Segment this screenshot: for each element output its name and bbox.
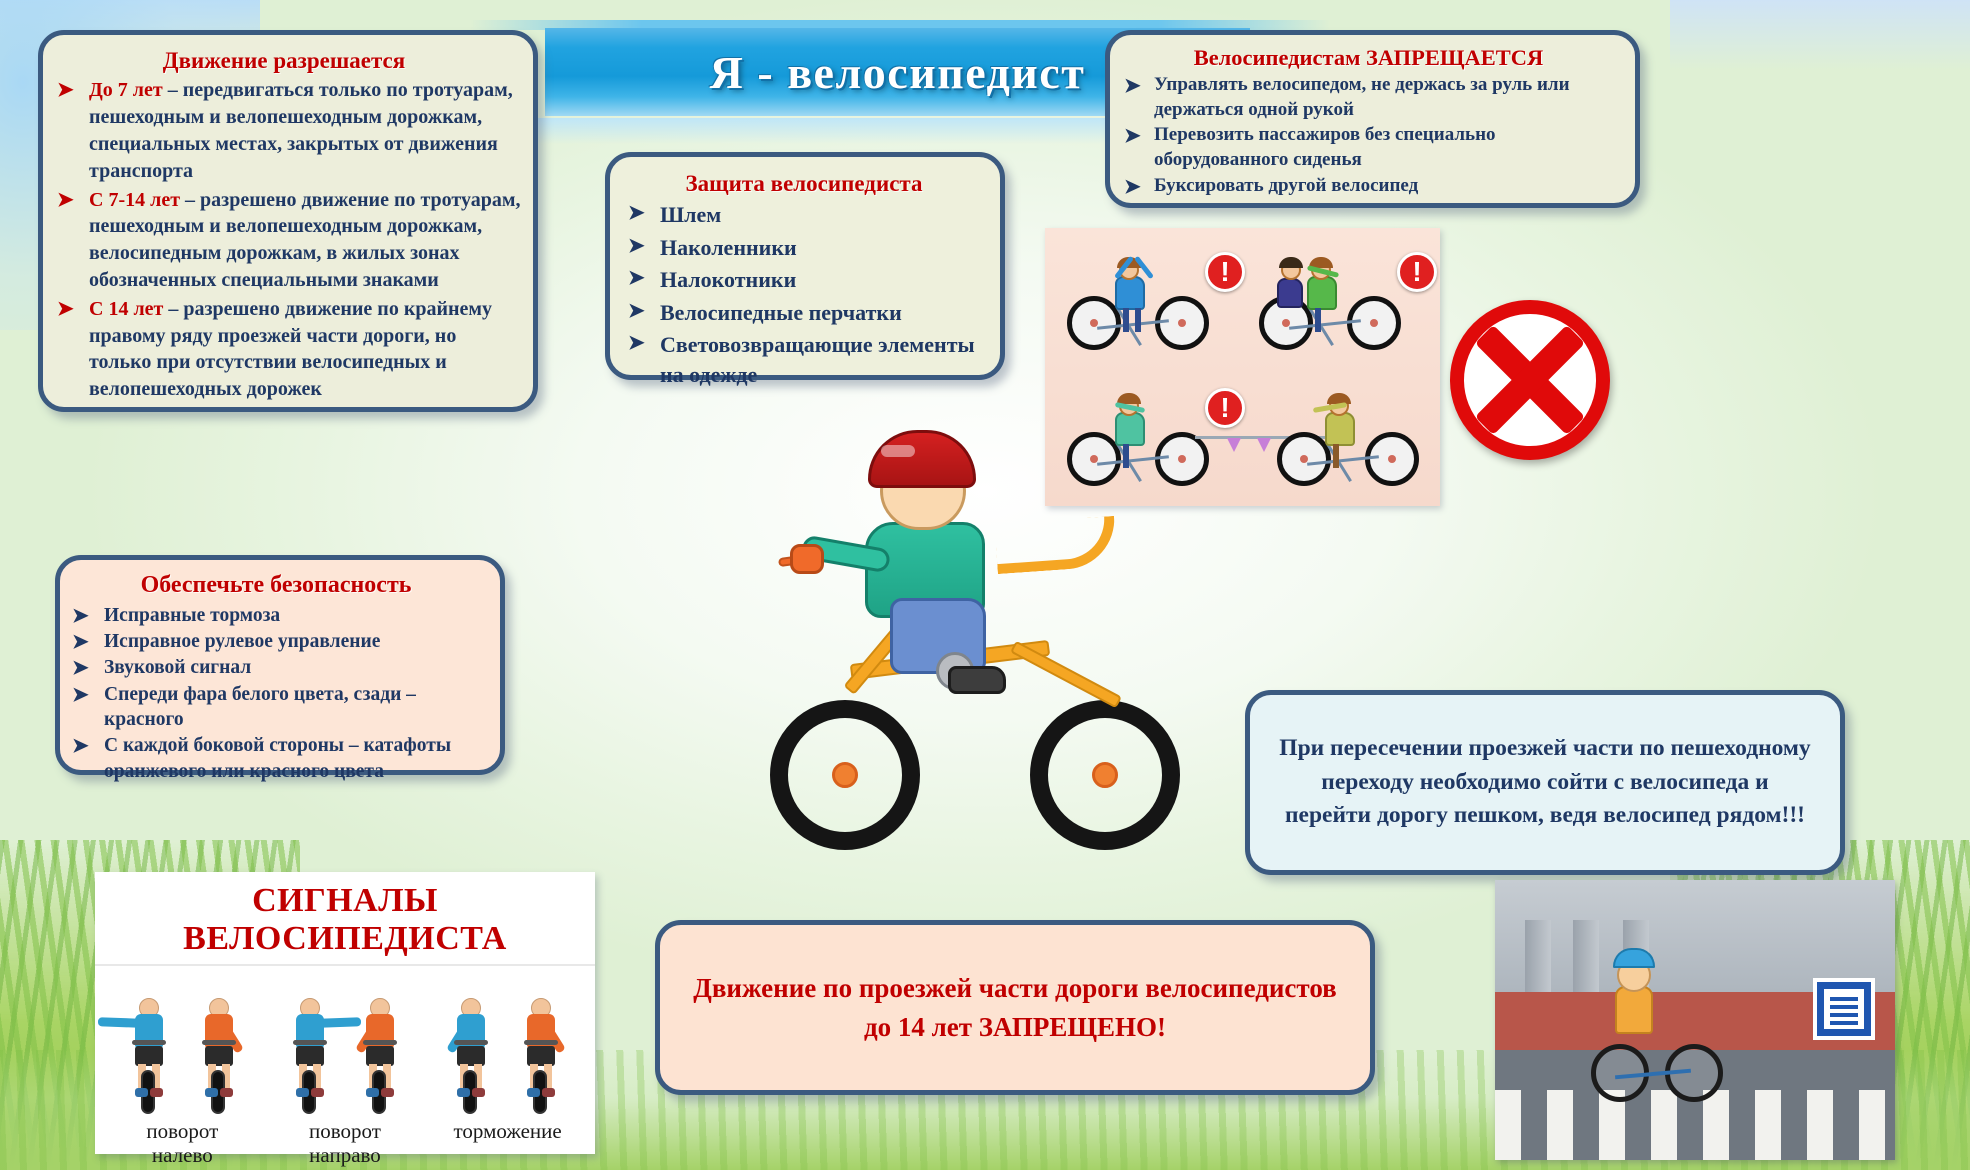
allowed-item-0-lead: До 7 лет — [89, 79, 163, 101]
safety-list: ➤ Исправные тормоза ➤ Исправное рулевое … — [62, 603, 490, 784]
shoe-icon — [296, 1088, 309, 1097]
wheel-icon — [1067, 296, 1121, 350]
forbidden-list: ➤ Управлять велосипедом, не держась за р… — [1116, 73, 1621, 198]
bullet-arrow-icon: ➤ — [72, 733, 89, 760]
shorts-icon — [205, 1046, 233, 1066]
handlebar-icon — [132, 1040, 166, 1045]
cyclist-rear-icon — [440, 978, 502, 1116]
passenger-torso-icon — [1277, 278, 1303, 308]
photo-pedestrian-crossing — [1495, 880, 1895, 1160]
card-safety-title: Обеспечьте безопасность — [62, 572, 490, 600]
torso-icon — [1325, 412, 1355, 446]
warning-badge-icon: ! — [1205, 252, 1245, 292]
list-item: ➤ Исправное рулевое управление — [62, 629, 490, 654]
signal-label-left-turn: поворот налево — [107, 1120, 257, 1167]
list-item: ➤ Световозвращающие элементы на одежде — [618, 330, 990, 391]
bunting-flag-icon — [1227, 438, 1241, 452]
crossing-text: При пересечении проезжей части по пешехо… — [1276, 732, 1814, 832]
card-cyclist-protection: Защита велосипедиста ➤ Шлем ➤ Наколенник… — [605, 152, 1005, 380]
protection-list: ➤ Шлем ➤ Наколенники ➤ Налокотники ➤ Вел… — [618, 200, 990, 390]
list-item: ➤ Управлять велосипедом, не держась за р… — [1116, 73, 1621, 122]
signals-title: СИГНАЛЫ ВЕЛОСИПЕДИСТА — [95, 872, 595, 966]
list-item: ➤ С 14 лет – разрешено движение по крайн… — [47, 296, 521, 403]
handlebar-icon — [363, 1040, 397, 1045]
shoe-icon — [366, 1088, 379, 1097]
decor-corner-top-right — [1670, 0, 1970, 70]
signal-label-braking: торможение — [433, 1120, 583, 1167]
bullet-arrow-icon: ➤ — [72, 655, 89, 682]
signals-labels: поворот налево поворот направо торможени… — [95, 1116, 595, 1170]
bike-frame-chainstay — [1010, 641, 1122, 709]
safety-item-1: Исправное рулевое управление — [104, 631, 380, 652]
bullet-arrow-icon: ➤ — [72, 629, 89, 656]
shorts-icon — [366, 1046, 394, 1066]
violation-no-hands-icon — [1063, 244, 1213, 354]
list-item: ➤ Перевозить пассажиров без специально о… — [1116, 123, 1621, 172]
leg-icon — [1135, 308, 1141, 332]
shoe-icon — [948, 666, 1006, 694]
list-item: ➤ С каждой боковой стороны – катафоты ор… — [62, 733, 490, 784]
rear-wheel-icon — [770, 700, 920, 850]
list-item: ➤ Спереди фара белого цвета, сзади – кра… — [62, 682, 490, 733]
shorts-icon — [135, 1046, 163, 1066]
bullet-arrow-icon: ➤ — [1124, 174, 1141, 201]
card-ensure-safety: Обеспечьте безопасность ➤ Исправные торм… — [55, 555, 505, 775]
shoe-icon — [542, 1088, 555, 1097]
arm-extended-left-icon — [98, 1017, 140, 1027]
violation-passenger-icon — [1255, 244, 1405, 354]
bullet-arrow-icon: ➤ — [57, 187, 74, 214]
torso-icon — [1307, 276, 1337, 310]
safety-item-2: Звуковой сигнал — [104, 657, 251, 678]
poster-root: Я - велосипедист Движение разрешается ➤ … — [0, 0, 1970, 1170]
bullet-arrow-icon: ➤ — [1124, 73, 1141, 100]
signal-braking-figures — [440, 978, 572, 1116]
bullet-arrow-icon: ➤ — [628, 233, 645, 260]
bullet-arrow-icon: ➤ — [57, 77, 74, 104]
leg-icon — [1123, 308, 1129, 332]
signal-left-turn-figures — [118, 978, 250, 1116]
shoe-icon — [472, 1088, 485, 1097]
protection-item-4: Световозвращающие элементы на одежде — [660, 332, 975, 387]
wheel-icon — [1155, 296, 1209, 350]
illustration-boy-on-bicycle — [760, 430, 1190, 850]
bullet-arrow-icon: ➤ — [1124, 123, 1141, 150]
warning-badge-icon: ! — [1397, 252, 1437, 292]
shoe-icon — [205, 1088, 218, 1097]
shorts-icon — [296, 1046, 324, 1066]
warning-badge-icon: ! — [1205, 388, 1245, 428]
card-protect-title: Защита велосипедиста — [618, 171, 990, 197]
allowed-item-2-lead: С 14 лет — [89, 298, 163, 320]
card-forbidden-title: Велосипедистам ЗАПРЕЩАЕТСЯ — [1116, 45, 1621, 71]
card-forbidden-actions: Велосипедистам ЗАПРЕЩАЕТСЯ ➤ Управлять в… — [1105, 30, 1640, 208]
bullet-arrow-icon: ➤ — [72, 603, 89, 630]
card-roadway-ban: Движение по проезжей части дороги велоси… — [655, 920, 1375, 1095]
torso-icon — [1115, 276, 1145, 310]
allowed-item-1-lead: С 7-14 лет — [89, 189, 180, 211]
pedestrian-crossing-sign-icon — [1813, 978, 1875, 1040]
signal-label-right-turn: поворот направо — [270, 1120, 420, 1167]
protection-item-2: Налокотники — [660, 267, 796, 292]
list-item: ➤ Налокотники — [618, 265, 990, 295]
list-item: ➤ Наколенники — [618, 233, 990, 263]
list-item: ➤ Исправные тормоза — [62, 603, 490, 628]
protection-item-1: Наколенники — [660, 235, 797, 260]
fender-icon — [994, 516, 1117, 574]
signal-right-turn-figures — [279, 978, 411, 1116]
card-allowed-movement: Движение разрешается ➤ До 7 лет – передв… — [38, 30, 538, 412]
forbidden-item-2: Буксировать другой велосипед — [1154, 175, 1418, 196]
safety-item-3: Спереди фара белого цвета, сзади – красн… — [104, 684, 416, 730]
safety-item-0: Исправные тормоза — [104, 605, 280, 626]
violation-towed-bike-icon — [1273, 380, 1423, 490]
bunting-flag-icon — [1257, 438, 1271, 452]
allowed-list: ➤ До 7 лет – передвигаться только по тро… — [47, 77, 521, 403]
signals-illustrations — [95, 966, 595, 1116]
shorts-icon — [457, 1046, 485, 1066]
cyclist-rear-icon — [279, 978, 341, 1116]
shoe-icon — [150, 1088, 163, 1097]
bullet-arrow-icon: ➤ — [628, 298, 645, 325]
list-item: ➤ Шлем — [618, 200, 990, 230]
handlebar-icon — [454, 1040, 488, 1045]
wheel-icon — [1277, 432, 1331, 486]
protection-item-0: Шлем — [660, 202, 721, 227]
safety-item-4: С каждой боковой стороны – катафоты оран… — [104, 735, 451, 781]
cyclist-rear-icon — [118, 978, 180, 1116]
handlebar-icon — [293, 1040, 327, 1045]
shoe-icon — [527, 1088, 540, 1097]
forbidden-item-1: Перевозить пассажиров без специально обо… — [1154, 124, 1496, 170]
bullet-arrow-icon: ➤ — [628, 330, 645, 357]
bullet-arrow-icon: ➤ — [628, 265, 645, 292]
leg-icon — [1333, 444, 1339, 468]
sign-glyph — [1824, 989, 1864, 1029]
cyclist-rear-icon — [349, 978, 411, 1116]
wheel-icon — [1347, 296, 1401, 350]
passenger-hair-icon — [1279, 257, 1303, 268]
hand-icon — [790, 544, 824, 574]
front-wheel-icon — [1030, 700, 1180, 850]
list-item: ➤ Звуковой сигнал — [62, 655, 490, 680]
prohibition-cross-icon — [1450, 300, 1610, 460]
forbidden-item-0: Управлять велосипедом, не держась за рул… — [1154, 74, 1570, 120]
ban-text: Движение по проезжей части дороги велоси… — [684, 969, 1346, 1046]
shorts-icon — [527, 1046, 555, 1066]
handlebar-icon — [202, 1040, 236, 1045]
handlebar-icon — [524, 1040, 558, 1045]
protection-item-3: Велосипедные перчатки — [660, 300, 902, 325]
shoe-icon — [457, 1088, 470, 1097]
hub-icon — [1092, 762, 1118, 788]
bullet-arrow-icon: ➤ — [628, 200, 645, 227]
shoe-icon — [381, 1088, 394, 1097]
helmet-icon — [868, 430, 976, 488]
signals-panel: СИГНАЛЫ ВЕЛОСИПЕДИСТА — [95, 872, 595, 1154]
hub-icon — [832, 762, 858, 788]
card-crossing-rule: При пересечении проезжей части по пешехо… — [1245, 690, 1845, 875]
cyclist-rear-icon — [510, 978, 572, 1116]
child-body-icon — [1615, 986, 1653, 1034]
shoe-icon — [311, 1088, 324, 1097]
leg-icon — [1315, 308, 1321, 332]
wheel-icon — [1365, 432, 1419, 486]
shoe-icon — [220, 1088, 233, 1097]
list-item: ➤ С 7-14 лет – разрешено движение по тро… — [47, 187, 521, 294]
cyclist-rear-icon — [188, 978, 250, 1116]
list-item: ➤ Буксировать другой велосипед — [1116, 174, 1621, 199]
card-allowed-title: Движение разрешается — [47, 48, 521, 74]
list-item: ➤ Велосипедные перчатки — [618, 298, 990, 328]
bullet-arrow-icon: ➤ — [57, 296, 74, 323]
list-item: ➤ До 7 лет – передвигаться только по тро… — [47, 77, 521, 184]
page-title: Я - велосипедист — [710, 46, 1086, 99]
bullet-arrow-icon: ➤ — [72, 682, 89, 709]
shoe-icon — [135, 1088, 148, 1097]
